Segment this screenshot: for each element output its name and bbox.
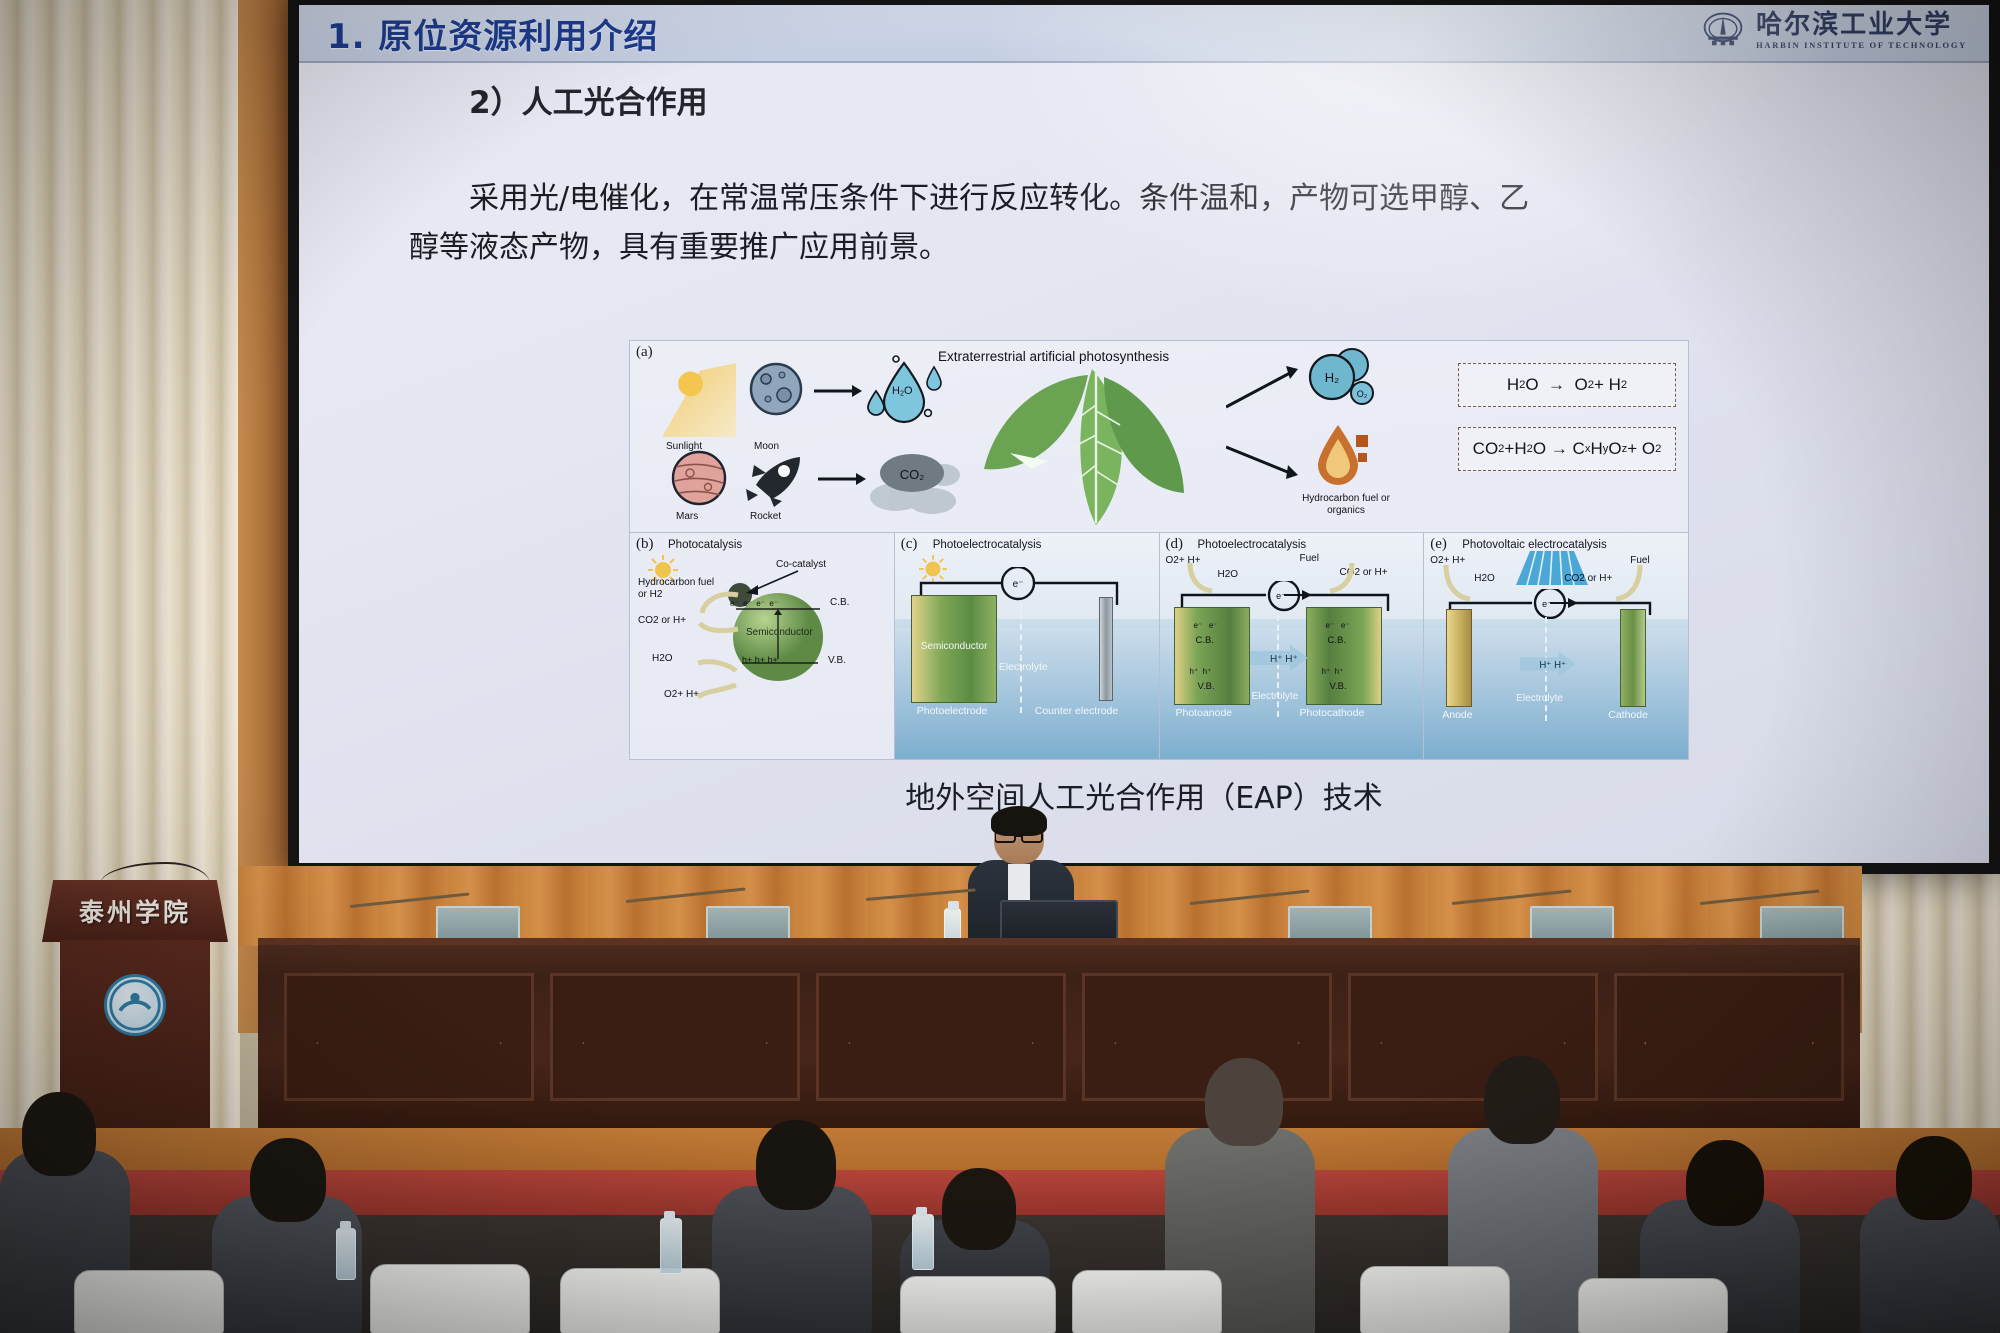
panel-d-arrow-o2 (1182, 559, 1220, 593)
panel-d-vb-anode: V.B. (1198, 681, 1215, 692)
table-panel-1 (284, 973, 534, 1101)
panel-d-h-anode: h⁺ h⁺ (1190, 667, 1212, 676)
table-panel-3 (816, 973, 1066, 1101)
svg-text:O₂: O₂ (1357, 389, 1368, 399)
panel-b-h2o: H2O (652, 653, 673, 664)
slide-paragraph-line2: 醇等液态产物，具有重要推广应用前景。 (409, 230, 949, 265)
table-panel-4 (1082, 973, 1332, 1101)
panel-e-cathode: Cathode (1608, 709, 1648, 721)
label-hydrocarbon-fuel: Hydrocarbon fuel or organics (1286, 493, 1406, 516)
svg-text:e⁻: e⁻ (1542, 599, 1552, 609)
panel-c-label: (c) (901, 536, 918, 553)
projection-screen: 1. 原位资源利用介绍 哈尔滨工业大学 HARBIN INSTITUTE OF … (288, 0, 2000, 874)
audience-head-left-1 (22, 1092, 96, 1176)
chair-6 (1360, 1266, 1510, 1333)
svg-text:H⁺ H⁺: H⁺ H⁺ (1540, 660, 1567, 671)
panel-c-name: Photoelectrocatalysis (933, 539, 1042, 551)
panel-a-label: (a) (636, 344, 653, 361)
chair-1 (74, 1270, 224, 1333)
slide-subtitle: 2）人工光合作用 (469, 77, 708, 122)
figure-panel-a: (a) Extraterrestrial artificial photosyn… (630, 341, 1688, 533)
proton-flow-arrow-e: H⁺ H⁺ (1520, 651, 1578, 677)
chair-3 (560, 1268, 720, 1333)
panel-a-heading: Extraterrestrial artificial photosynthes… (938, 349, 1169, 364)
co2-cloud-icon: CO₂ (866, 441, 962, 517)
water-bottle-row-1 (660, 1218, 682, 1274)
panel-d-photocathode: Photocathode (1300, 707, 1365, 719)
cathode-bar (1620, 609, 1646, 707)
panel-e-electrolyte: Electrolyte (1516, 693, 1563, 704)
panel-e-co2: CO2 or H+ (1564, 573, 1612, 584)
panel-e-anode: Anode (1442, 709, 1472, 721)
panel-b-co2: CO2 or H+ (638, 615, 686, 626)
panel-d-name: Photoelectrocatalysis (1198, 539, 1307, 551)
head-table (258, 938, 1860, 1128)
panel-c-counter-electrode: Counter electrode (1035, 705, 1118, 717)
svg-text:CO₂: CO₂ (900, 467, 925, 482)
panel-c-electrolyte: Electrolyte (999, 661, 1048, 673)
panel-b-semiconductor: Semiconductor (746, 627, 813, 638)
svg-text:e⁻: e⁻ (1276, 591, 1286, 601)
panel-c-photoelectrode: Photoelectrode (917, 705, 988, 717)
mars-icon (670, 449, 728, 507)
panel-d-cb-anode: C.B. (1196, 635, 1214, 646)
chair-4 (900, 1276, 1056, 1333)
label-h2o-a: H2O (892, 385, 913, 398)
podium-sign-text: 泰州学院 (79, 893, 191, 929)
label-rocket: Rocket (750, 511, 781, 522)
audience-head-mid-2 (942, 1168, 1016, 1250)
panel-d-label: (d) (1166, 536, 1184, 553)
figure-panel-d: (d) Photoelectrocatalysis O2+ H+ H2O Fue… (1160, 533, 1425, 759)
equation-co2-reduction: CO2+H2O → CxHyOz + O2 (1458, 427, 1676, 471)
svg-text:e⁻: e⁻ (1012, 579, 1023, 590)
slide-paragraph: 采用光/电催化，在常温常压条件下进行反应转化。条件温和，产物可选甲醇、乙 醇等液… (409, 175, 1909, 272)
equation-water-splitting: H2O → O2 + H2 (1458, 363, 1676, 407)
slide-paragraph-line1: 采用光/电催化，在常温常压条件下进行反应转化。条件温和，产物可选甲醇、乙 (409, 175, 1909, 224)
panel-e-arrow-o2 (1438, 561, 1478, 601)
panel-b-label: (b) (636, 536, 654, 553)
eap-figure: (a) Extraterrestrial artificial photosyn… (629, 340, 1689, 760)
panel-e-label: (e) (1430, 536, 1447, 553)
panel-d-vb-cathode: V.B. (1330, 681, 1347, 692)
panel-b-name: Photocatalysis (668, 539, 742, 551)
university-logo: 哈尔滨工业大学 HARBIN INSTITUTE OF TECHNOLOGY (1700, 8, 1967, 54)
lecture-hall-photo: 1. 原位资源利用介绍 哈尔滨工业大学 HARBIN INSTITUTE OF … (0, 0, 2000, 1333)
svg-text:H⁺ H⁺: H⁺ H⁺ (1270, 654, 1298, 665)
table-panel-5 (1348, 973, 1598, 1101)
h2-o2-bubbles-icon: H₂ O₂ (1306, 347, 1388, 413)
slide-title: 1. 原位资源利用介绍 (327, 9, 658, 58)
speaker-glasses (995, 830, 1043, 841)
panel-e-name: Photovoltaic electrocatalysis (1462, 539, 1606, 551)
sunlight-icon (662, 363, 738, 437)
chair-2 (370, 1264, 530, 1333)
leaf-icon (970, 365, 1220, 531)
table-panel-2 (550, 973, 800, 1101)
arrow-to-fuel-icon (1226, 437, 1306, 483)
water-bottle-row-3 (336, 1228, 356, 1280)
panel-d-arrow-fuel (1326, 559, 1364, 593)
panel-d-electrolyte: Electrolyte (1252, 691, 1299, 702)
panel-d-e-anode: e⁻ e⁻ (1194, 621, 1218, 630)
moon-icon (748, 361, 804, 417)
arrow-right-icon-2 (818, 471, 866, 487)
presentation-slide: 1. 原位资源利用介绍 哈尔滨工业大学 HARBIN INSTITUTE OF … (299, 5, 1989, 863)
audience-head-1 (1205, 1058, 1283, 1146)
arrow-to-h2-icon (1226, 365, 1306, 411)
figure-panel-e: (e) Photovoltaic electrocatalysis O2+ H+… (1424, 533, 1688, 759)
panel-c-counter-electrode-bar (1099, 597, 1113, 701)
proton-flow-arrow-d: H⁺ H⁺ (1250, 645, 1310, 671)
panel-d-cb-cathode: C.B. (1328, 635, 1346, 646)
school-seal-icon (104, 974, 166, 1036)
figure-panel-b: (b) Photocatalysis (630, 533, 895, 759)
arrow-right-icon-1 (814, 383, 862, 399)
table-panel-6 (1614, 973, 1844, 1101)
cocatalyst-pointer-icon (742, 569, 800, 595)
audience-head-right-1 (1686, 1140, 1764, 1226)
panel-d-h-cathode: h⁺ h⁺ (1322, 667, 1344, 676)
chair-7 (1578, 1278, 1728, 1333)
water-bottle-row-2 (912, 1214, 934, 1270)
panel-d-photoanode: Photoanode (1176, 707, 1233, 719)
panel-e-arrow-fuel (1610, 561, 1650, 601)
hit-emblem-icon (1700, 8, 1746, 54)
podium-header: 泰州学院 (42, 880, 228, 942)
panel-b-holes: h+ h+ h+ (742, 655, 778, 665)
figure-panel-c: (c) Photoelectrocatalysis e⁻ (895, 533, 1160, 759)
panel-b-vb: V.B. (828, 655, 846, 666)
label-mars: Mars (676, 511, 698, 522)
panel-d-h2o: H2O (1218, 569, 1239, 580)
panel-d-e-cathode: e⁻ e⁻ (1326, 621, 1350, 630)
university-name-cn: 哈尔滨工业大学 (1756, 12, 1967, 39)
university-name-en: HARBIN INSTITUTE OF TECHNOLOGY (1756, 40, 1967, 50)
chair-5 (1072, 1270, 1222, 1333)
panel-b-cb: C.B. (830, 597, 849, 608)
reaction-arrows-b (686, 589, 742, 703)
audience-head-mid-1 (756, 1120, 836, 1210)
figure-panel-row: (b) Photocatalysis (630, 533, 1688, 759)
rocket-icon (742, 451, 808, 507)
panel-c-semiconductor: Semiconductor (921, 641, 988, 652)
panel-d-fuel: Fuel (1300, 553, 1319, 564)
slide-caption: 地外空间人工光合作用（EAP）技术 (299, 773, 1989, 817)
svg-text:H₂: H₂ (1325, 370, 1339, 385)
anode-bar (1446, 609, 1472, 707)
audience-head-left-2 (250, 1138, 326, 1222)
audience-head-grey (1484, 1056, 1560, 1144)
hydrocarbon-fuel-icon (1308, 421, 1378, 491)
panel-c-divider (1020, 603, 1022, 713)
audience-head-far-right (1896, 1136, 1972, 1220)
